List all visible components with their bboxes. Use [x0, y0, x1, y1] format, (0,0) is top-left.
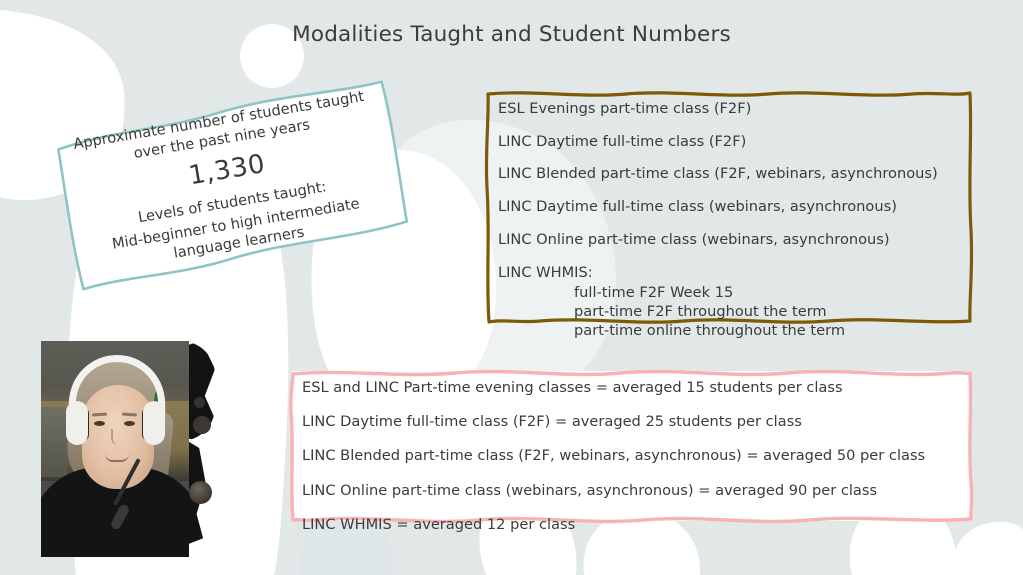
- average-item: LINC Daytime full-time class (F2F) = ave…: [302, 413, 925, 431]
- modality-item: LINC Daytime full-time class (F2F): [498, 133, 938, 151]
- average-item: LINC Blended part-time class (F2F, webin…: [302, 447, 925, 465]
- whmis-heading: LINC WHMIS:: [498, 264, 938, 282]
- decorative-dot-small: [194, 397, 205, 408]
- page-title: Modalities Taught and Student Numbers: [0, 22, 1023, 47]
- modality-item: LINC Blended part-time class (F2F, webin…: [498, 165, 938, 183]
- modality-item: ESL Evenings part-time class (F2F): [498, 100, 938, 118]
- slide-canvas: Modalities Taught and Student Numbers Ap…: [0, 0, 1023, 575]
- whmis-sub-item: full-time F2F Week 15: [498, 284, 938, 302]
- average-item: LINC Online part-time class (webinars, a…: [302, 482, 925, 500]
- averages-content: ESL and LINC Part-time evening classes =…: [289, 368, 925, 550]
- modalities-taught-list: ESL Evenings part-time class (F2F) LINC …: [484, 88, 974, 326]
- student-count-total: 1,330: [186, 148, 267, 193]
- modality-item: LINC Daytime full-time class (webinars, …: [498, 198, 938, 216]
- avatar: [41, 341, 189, 557]
- modalities-content: ESL Evenings part-time class (F2F) LINC …: [484, 88, 938, 342]
- modality-item: LINC Online part-time class (webinars, a…: [498, 231, 938, 249]
- whmis-sub-item: part-time F2F throughout the term: [498, 303, 938, 321]
- decorative-dot-medium: [193, 416, 211, 434]
- average-item: LINC WHMIS = averaged 12 per class: [302, 516, 925, 534]
- average-item: ESL and LINC Part-time evening classes =…: [302, 379, 925, 397]
- instructor-photo: [41, 341, 219, 557]
- approximate-students-note: Approximate number of students taught ov…: [54, 84, 403, 281]
- decorative-dot-large: [189, 481, 212, 504]
- whmis-sub-item: part-time online throughout the term: [498, 322, 938, 340]
- class-size-averages-list: ESL and LINC Part-time evening classes =…: [289, 368, 974, 524]
